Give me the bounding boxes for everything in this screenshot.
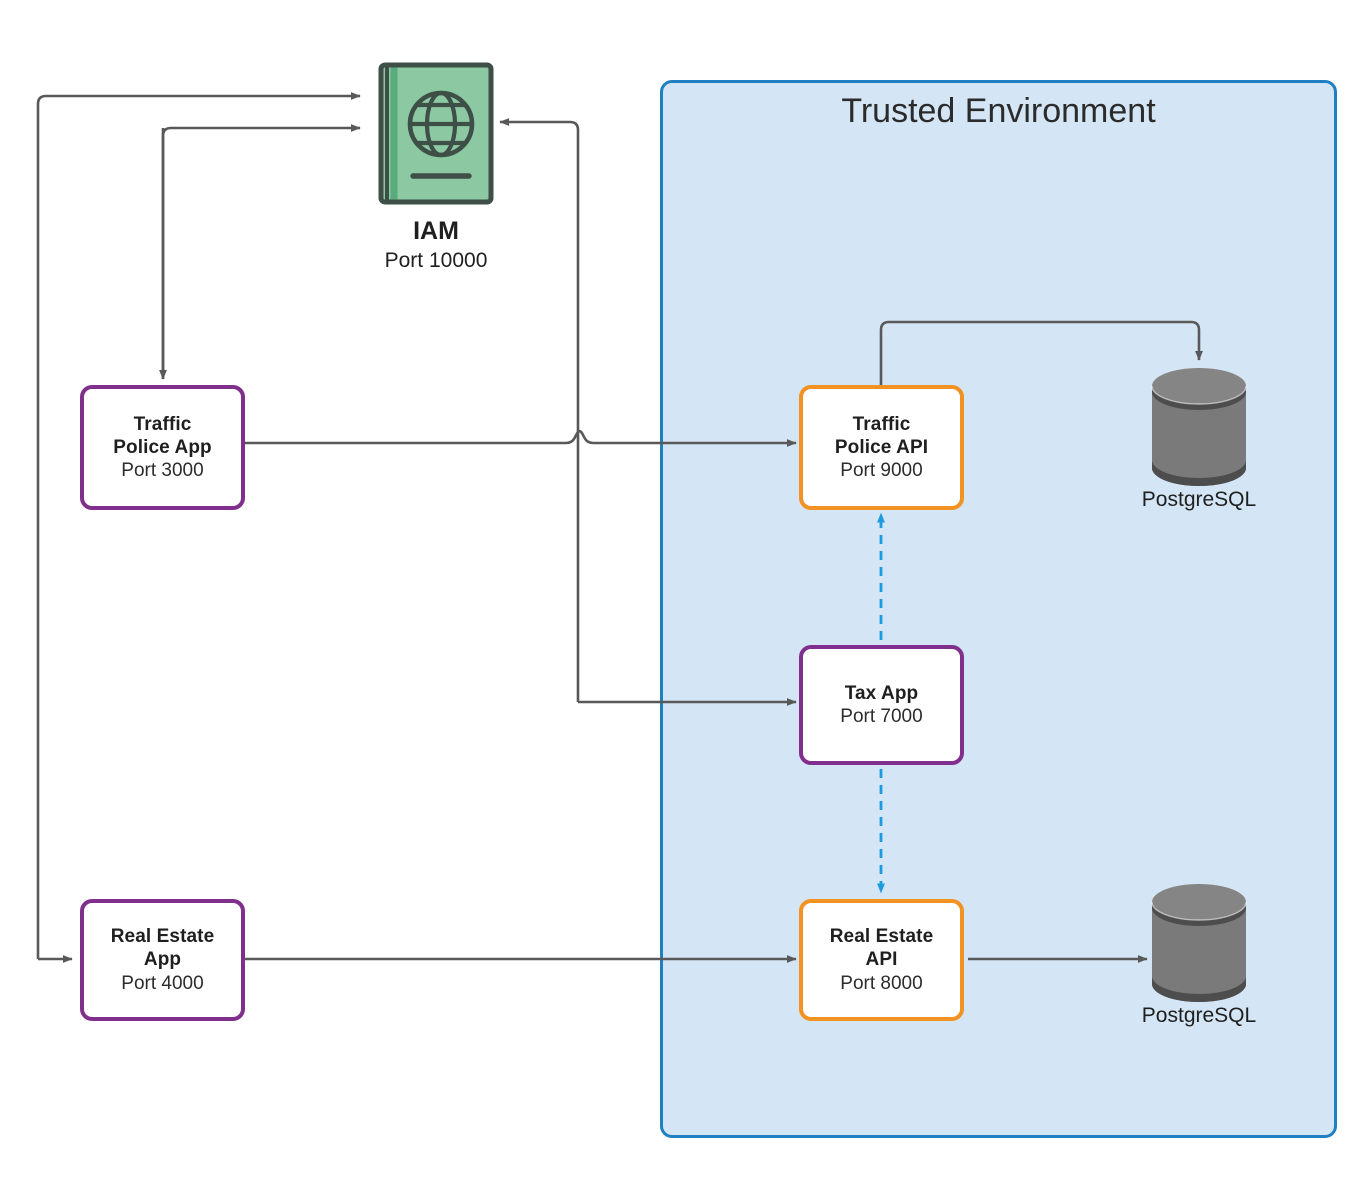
database-traffic-police-cylinder[interactable]: [1146, 364, 1252, 490]
database-traffic-police-label: PostgreSQL: [1126, 488, 1272, 512]
node-real-estate-api-name-line1: Real Estate: [824, 925, 940, 948]
node-traffic-police-api-port: Port 9000: [840, 459, 922, 482]
iam-caption: IAM Port 10000: [306, 216, 566, 275]
node-real-estate-app-name-line2: App: [138, 948, 187, 971]
node-tax-app-port: Port 7000: [840, 705, 922, 728]
edge-tax-app-to-iam: [500, 122, 578, 702]
node-real-estate-api-name-line2: API: [860, 948, 904, 971]
node-real-estate-app-port: Port 4000: [121, 972, 203, 995]
iam-passport-globe-icon[interactable]: [378, 62, 494, 205]
diagram-canvas: Trusted Environment: [0, 0, 1361, 1180]
node-traffic-police-app-name-line2: Police App: [107, 436, 217, 459]
node-traffic-police-api[interactable]: Traffic Police API Port 9000: [799, 385, 964, 510]
node-traffic-police-app-port: Port 3000: [121, 459, 203, 482]
node-tax-app-name-line1: Tax App: [839, 682, 925, 705]
edge-traffic-police-app-to-api: [245, 431, 796, 443]
node-tax-app[interactable]: Tax App Port 7000: [799, 645, 964, 765]
node-real-estate-app-name-line1: Real Estate: [105, 925, 221, 948]
database-real-estate-cylinder[interactable]: [1146, 880, 1252, 1006]
node-traffic-police-api-name-line1: Traffic: [847, 413, 917, 436]
iam-name: IAM: [306, 216, 566, 247]
node-traffic-police-app[interactable]: Traffic Police App Port 3000: [80, 385, 245, 510]
database-real-estate-label: PostgreSQL: [1126, 1004, 1272, 1028]
node-real-estate-app[interactable]: Real Estate App Port 4000: [80, 899, 245, 1021]
iam-port: Port 10000: [306, 247, 566, 274]
node-traffic-police-api-name-line2: Police API: [829, 436, 934, 459]
node-real-estate-api[interactable]: Real Estate API Port 8000: [799, 899, 964, 1021]
node-real-estate-api-port: Port 8000: [840, 972, 922, 995]
node-traffic-police-app-name-line1: Traffic: [128, 413, 198, 436]
